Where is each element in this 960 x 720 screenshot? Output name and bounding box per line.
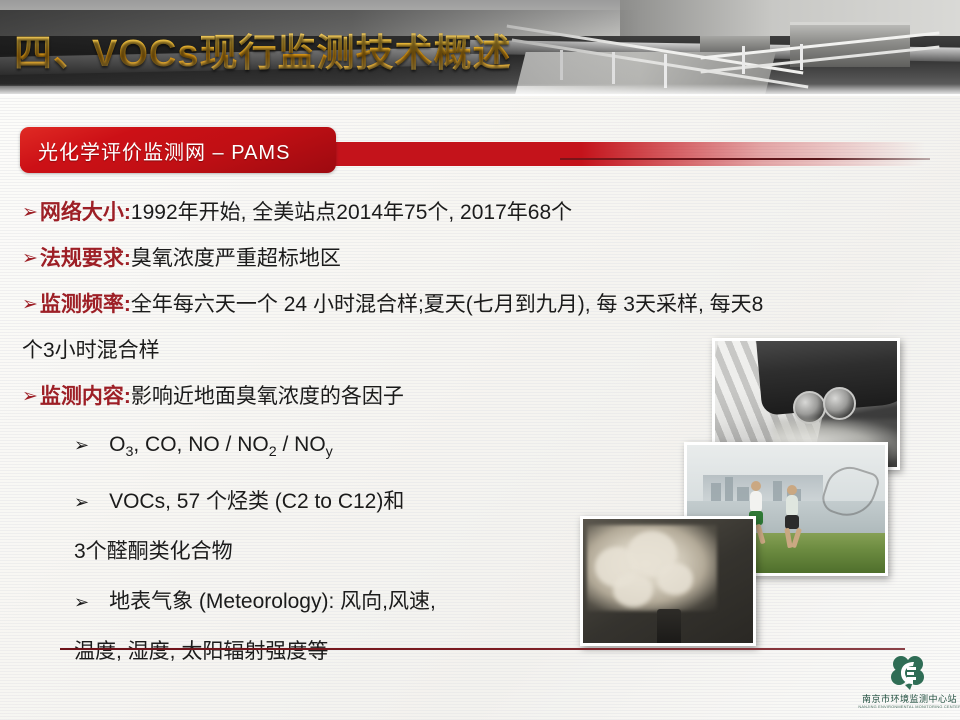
logo-subtitle: NANJING ENVIRONMENTAL MONITORING CENTER <box>858 705 957 709</box>
sub-bullet-text: 地表气象 (Meteorology): 风向,风速, <box>109 577 436 627</box>
bullet-label: 监测频率: <box>40 282 131 328</box>
sub-bullet-arrow-icon: ➢ <box>74 477 89 527</box>
banner-post-5 <box>800 44 803 70</box>
leaf-clover-e-icon <box>889 655 927 691</box>
bullet-value: 全年每六天一个 24 小时混合样;夏天(七月到九月), 每 3天采样, 每天8 <box>131 282 763 328</box>
formula-subscript: y <box>326 444 333 460</box>
formula-subscript: 2 <box>269 444 277 460</box>
bullet-label: 监测内容: <box>40 374 131 420</box>
runner-head <box>787 485 797 495</box>
bullet-item-network-size: ➢ 网络大小: 1992年开始, 全美站点2014年75个, 2017年68个 <box>22 190 937 236</box>
sub-bullet-text: VOCs, 57 个烃类 (C2 to C12)和 <box>109 477 404 527</box>
smoke-stack-chimney <box>657 609 681 645</box>
skyline-building <box>725 477 733 501</box>
page-title: 四、VOCs现行监测技术概述 <box>14 22 511 77</box>
sub-bullet-meteorology: ➢ 地表气象 (Meteorology): 风向,风速, <box>74 577 937 627</box>
formula-text: / NO <box>277 433 326 456</box>
sub-bullet-arrow-icon: ➢ <box>74 420 89 470</box>
section-rule-line <box>560 158 930 160</box>
banner-post-4 <box>742 46 745 74</box>
skyline-building <box>737 487 749 501</box>
bullet-value: 臭氧浓度严重超标地区 <box>131 236 341 282</box>
bullet-label: 法规要求: <box>40 236 131 282</box>
jogger-skyline <box>703 475 823 501</box>
bullet-item-regulation: ➢ 法规要求: 臭氧浓度严重超标地区 <box>22 236 937 282</box>
bullet-arrow-icon: ➢ <box>22 374 38 420</box>
formula-text: , CO, NO / NO <box>133 433 268 456</box>
runner-head <box>751 481 761 491</box>
runner-torso <box>750 491 762 513</box>
banner-fade <box>0 84 960 96</box>
bullet-value: 影响近地面臭氧浓度的各因子 <box>131 374 404 420</box>
sub-bullet-continuation-meteorology: 温度, 湿度, 太阳辐射强度等 <box>74 627 937 677</box>
slide: 四、VOCs现行监测技术概述 四、VOCs现行监测技术概述 光化学评价监测网 –… <box>0 0 960 720</box>
bullet-value: 1992年开始, 全美站点2014年75个, 2017年68个 <box>131 190 572 236</box>
bullet-arrow-icon: ➢ <box>22 190 38 236</box>
runner-shorts <box>785 515 799 529</box>
sub-bullet-arrow-icon: ➢ <box>74 577 89 627</box>
logo-name: 南京市环境监测中心站 <box>862 692 954 705</box>
section-tab[interactable]: 光化学评价监测网 – PAMS <box>20 127 336 173</box>
smoke-puff <box>657 563 693 595</box>
bullet-arrow-icon: ➢ <box>22 236 38 282</box>
smoke-puff <box>613 573 653 607</box>
organization-logo: 南京市环境监测中心站 NANJING ENVIRONMENTAL MONITOR… <box>862 655 954 715</box>
skyline-building <box>773 481 782 501</box>
bullet-item-frequency: ➢ 监测频率: 全年每六天一个 24 小时混合样;夏天(七月到九月), 每 3天… <box>22 282 937 328</box>
runner-torso <box>786 495 798 517</box>
bullet-arrow-icon: ➢ <box>22 282 38 328</box>
section-tab-label: 光化学评价监测网 – PAMS <box>38 136 290 165</box>
sub-bullet-formula: O3, CO, NO / NO2 / NOy <box>109 420 333 477</box>
smokestack-photo <box>580 516 756 646</box>
footer-rule <box>60 648 905 650</box>
banner-post-3 <box>664 54 667 88</box>
exhaust-pipe-right <box>823 387 856 420</box>
bullet-label: 网络大小: <box>40 190 131 236</box>
skyline-building <box>711 483 721 501</box>
formula-text: O <box>109 433 125 456</box>
